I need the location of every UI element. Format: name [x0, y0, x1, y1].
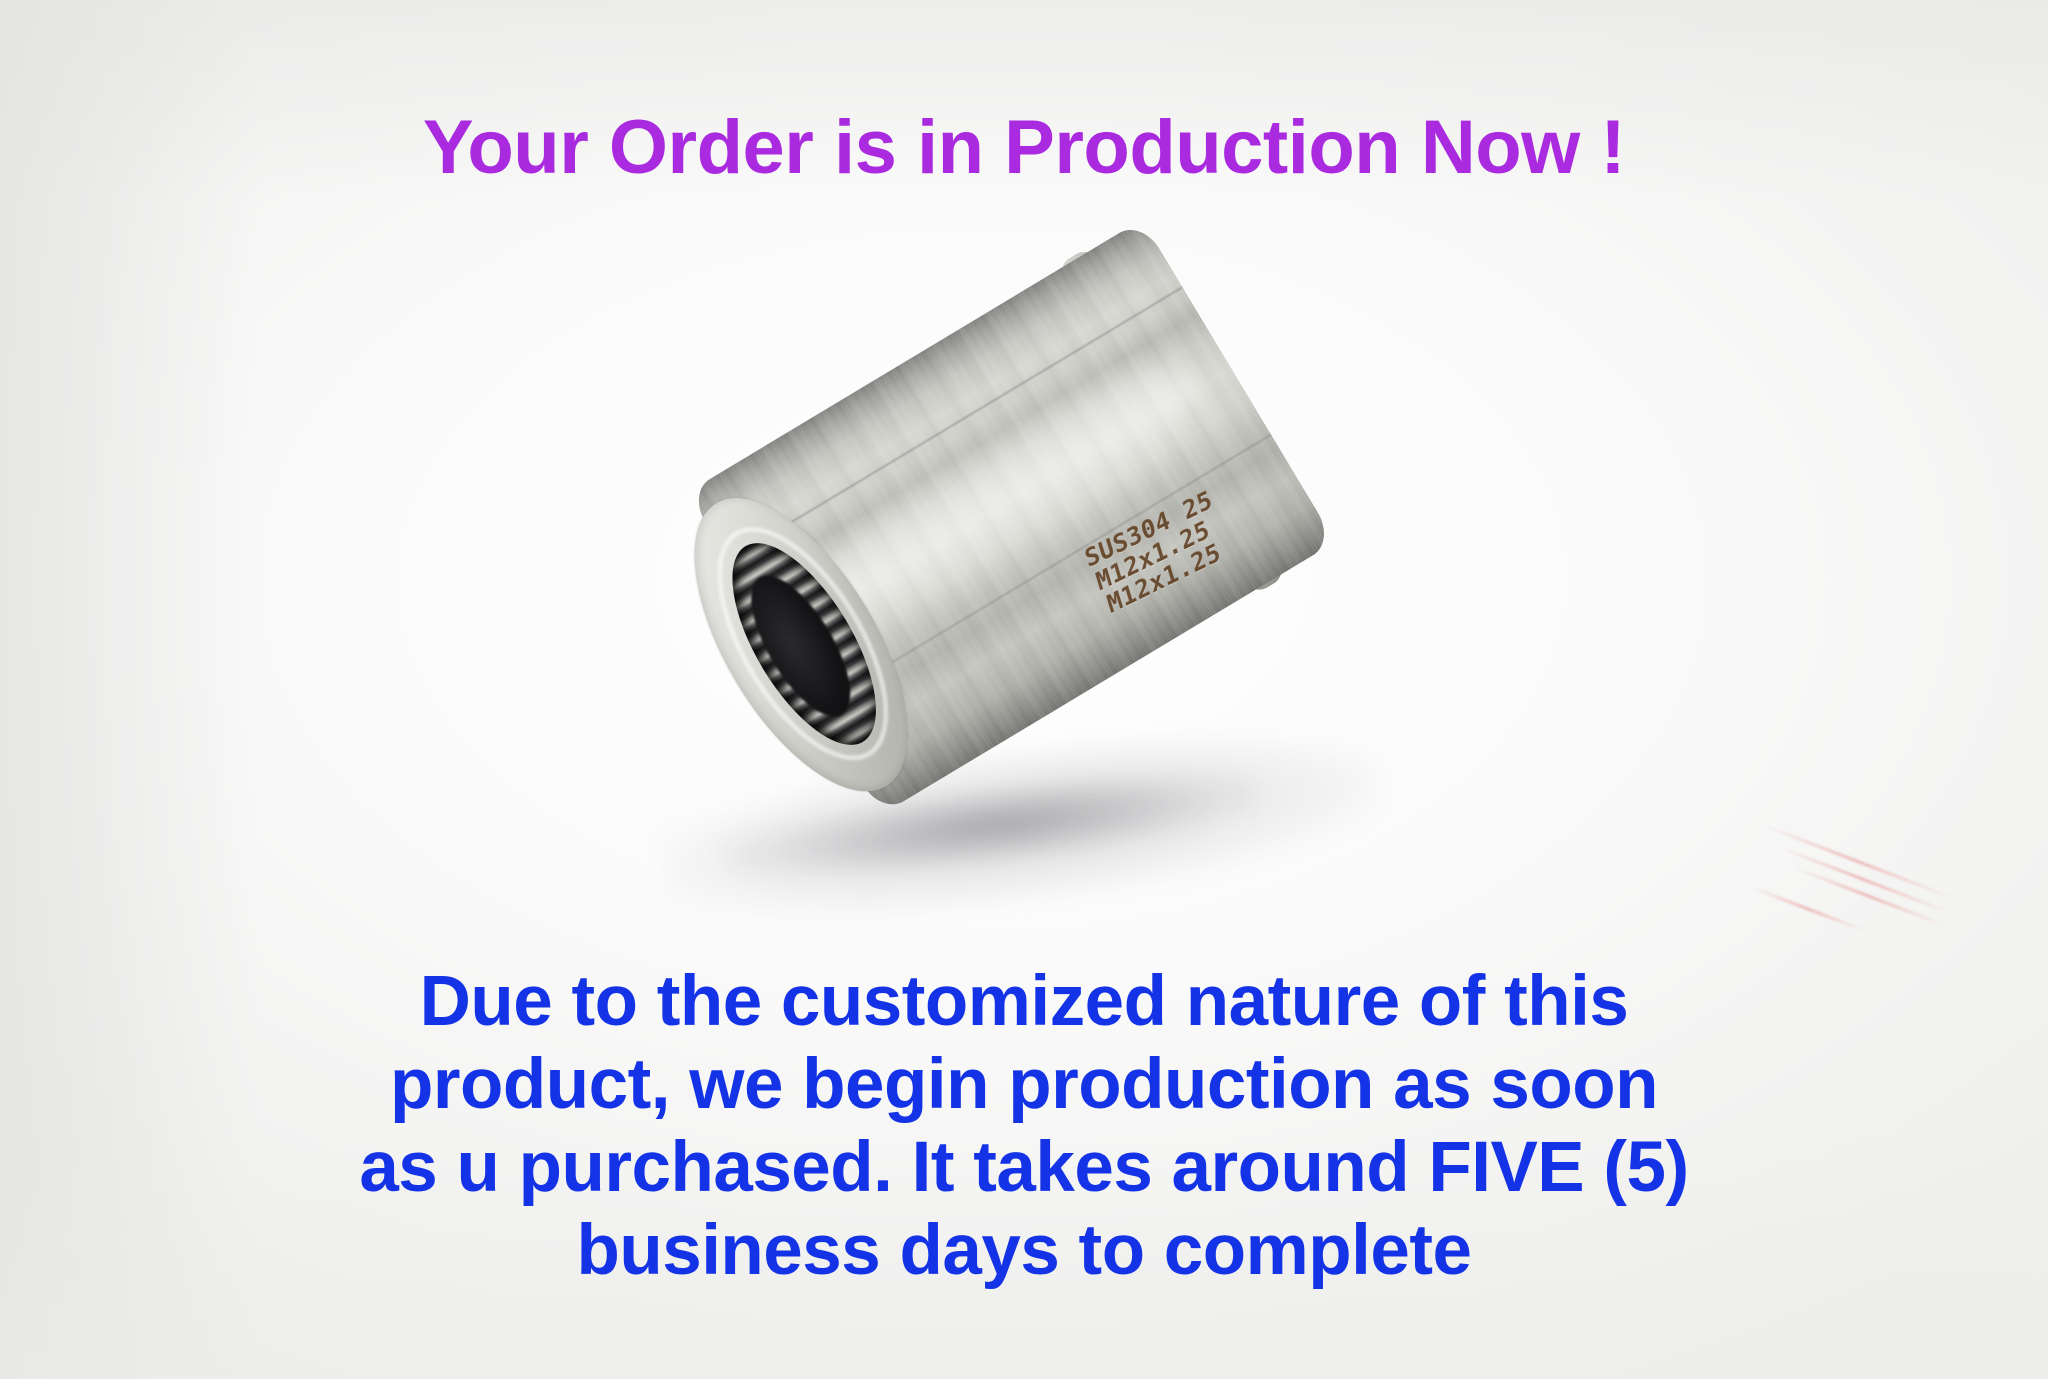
body-line-2: product, we begin production as soon: [0, 1043, 2048, 1126]
body-line-4: business days to complete: [0, 1209, 2048, 1292]
body-line-3: as u purchased. It takes around FIVE (5): [0, 1126, 2048, 1209]
backdrop-scuff-marks: [1770, 790, 2000, 910]
nut-bore-shadow: [732, 561, 869, 731]
body-copy: Due to the customized nature of this pro…: [0, 960, 2048, 1292]
product-photo: SUS304 25 M12x1.25 M12x1.25: [600, 280, 1540, 960]
headline-text: Your Order is in Production Now !: [0, 108, 2048, 188]
production-notice-banner: Your Order is in Production Now ! SUS304…: [0, 0, 2048, 1379]
body-line-1: Due to the customized nature of this: [0, 960, 2048, 1043]
